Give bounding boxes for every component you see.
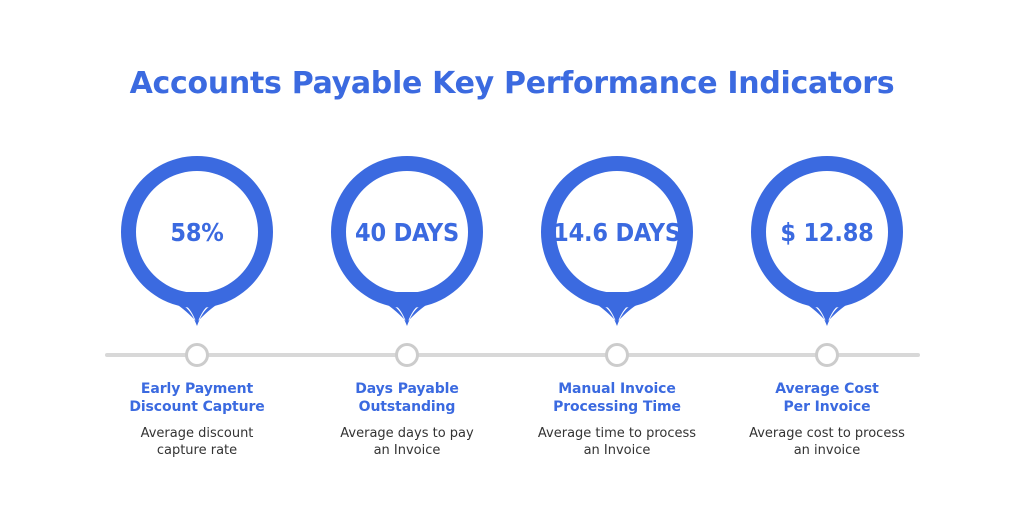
- timeline-node-2[interactable]: [395, 343, 419, 367]
- kpi-caption-desc-2: Average days to pay an Invoice: [292, 425, 522, 459]
- kpi-value-3: 14.6 DAYS: [512, 150, 722, 315]
- kpi-pin-row: 58% 40 DAYS 14.6 DAYS $ 12: [0, 150, 1024, 335]
- kpi-caption-desc-1-line1: Average discount: [82, 425, 312, 442]
- kpi-caption-2: Days Payable Outstanding Average days to…: [292, 380, 522, 459]
- kpi-caption-desc-3: Average time to process an Invoice: [502, 425, 732, 459]
- kpi-pin-4[interactable]: $ 12.88: [722, 150, 932, 335]
- kpi-caption-1: Early Payment Discount Capture Average d…: [82, 380, 312, 459]
- kpi-caption-desc-4-line1: Average cost to process: [712, 425, 942, 442]
- kpi-caption-title-3: Manual Invoice Processing Time: [502, 380, 732, 416]
- kpi-caption-title-2-line2: Outstanding: [292, 398, 522, 416]
- kpi-caption-3: Manual Invoice Processing Time Average t…: [502, 380, 732, 459]
- kpi-value-4: $ 12.88: [722, 150, 932, 315]
- kpi-caption-desc-3-line1: Average time to process: [502, 425, 732, 442]
- kpi-pin-2[interactable]: 40 DAYS: [302, 150, 512, 335]
- kpi-caption-desc-1-line2: capture rate: [82, 442, 312, 459]
- kpi-caption-title-1: Early Payment Discount Capture: [82, 380, 312, 416]
- kpi-caption-title-1-line2: Discount Capture: [82, 398, 312, 416]
- timeline-node-1[interactable]: [185, 343, 209, 367]
- kpi-pin-3[interactable]: 14.6 DAYS: [512, 150, 722, 335]
- kpi-caption-title-4-line2: Per Invoice: [712, 398, 942, 416]
- kpi-caption-desc-1: Average discount capture rate: [82, 425, 312, 459]
- kpi-value-1: 58%: [92, 150, 302, 315]
- infographic-canvas: Accounts Payable Key Performance Indicat…: [0, 0, 1024, 512]
- kpi-pin-1[interactable]: 58%: [92, 150, 302, 335]
- kpi-caption-title-2-line1: Days Payable: [292, 380, 522, 398]
- kpi-caption-title-3-line2: Processing Time: [502, 398, 732, 416]
- page-title: Accounts Payable Key Performance Indicat…: [0, 66, 1024, 101]
- kpi-caption-4: Average Cost Per Invoice Average cost to…: [712, 380, 942, 459]
- kpi-caption-desc-3-line2: an Invoice: [502, 442, 732, 459]
- kpi-caption-title-4-line1: Average Cost: [712, 380, 942, 398]
- timeline-track: [105, 353, 920, 357]
- kpi-caption-desc-4: Average cost to process an invoice: [712, 425, 942, 459]
- kpi-caption-desc-2-line2: an Invoice: [292, 442, 522, 459]
- kpi-caption-title-3-line1: Manual Invoice: [502, 380, 732, 398]
- kpi-caption-title-1-line1: Early Payment: [82, 380, 312, 398]
- kpi-caption-row: Early Payment Discount Capture Average d…: [0, 380, 1024, 480]
- kpi-caption-title-4: Average Cost Per Invoice: [712, 380, 942, 416]
- kpi-value-2: 40 DAYS: [302, 150, 512, 315]
- timeline-node-3[interactable]: [605, 343, 629, 367]
- timeline-node-4[interactable]: [815, 343, 839, 367]
- kpi-caption-desc-4-line2: an invoice: [712, 442, 942, 459]
- kpi-caption-title-2: Days Payable Outstanding: [292, 380, 522, 416]
- kpi-caption-desc-2-line1: Average days to pay: [292, 425, 522, 442]
